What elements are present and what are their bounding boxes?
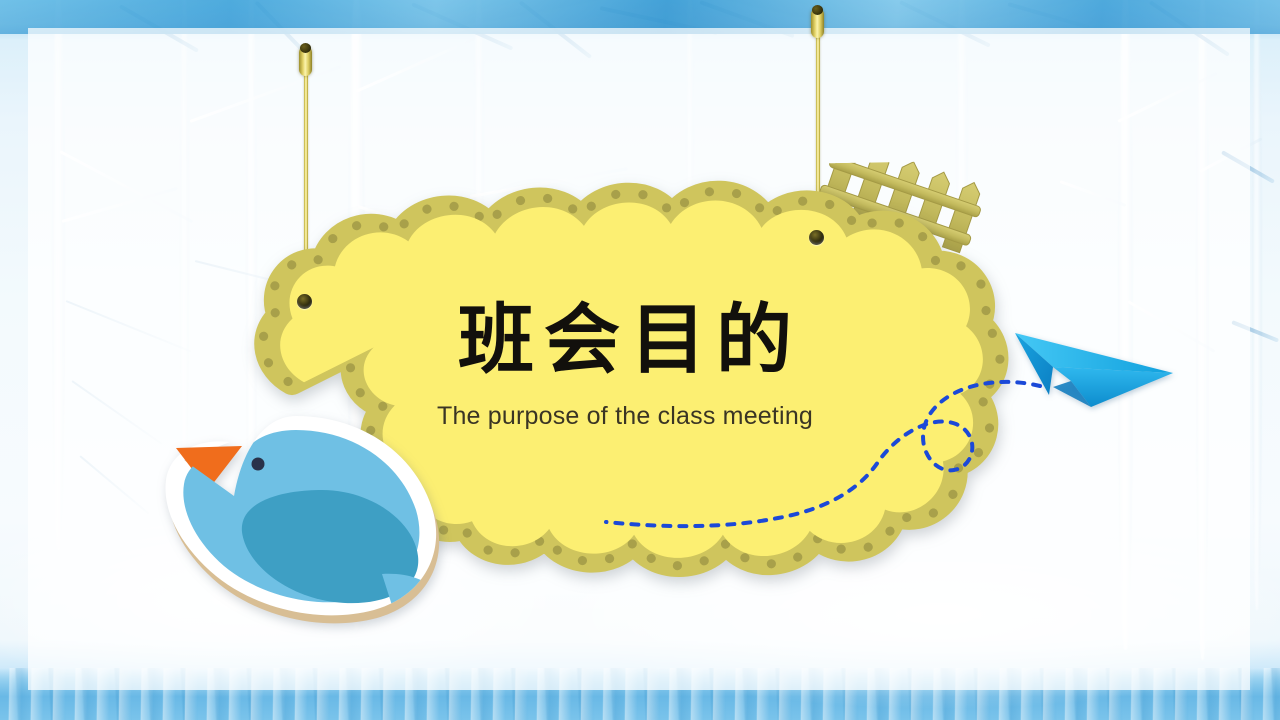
paper-airplane-icon (1013, 325, 1181, 420)
bird-eye (252, 458, 265, 471)
presentation-slide: 班会目的 The purpose of the class meeting (0, 0, 1280, 720)
tree-trunk (52, 0, 65, 550)
paper-airplane (1013, 325, 1181, 420)
tree-trunk (1252, 0, 1262, 610)
left-string-knob (299, 46, 312, 76)
cloud-hole-left (297, 294, 312, 309)
bird-icon (146, 404, 462, 630)
right-string-knob (811, 8, 824, 38)
cloud-hole-right (809, 230, 824, 245)
bird-sticker (146, 404, 462, 630)
sky-band (0, 0, 1280, 34)
